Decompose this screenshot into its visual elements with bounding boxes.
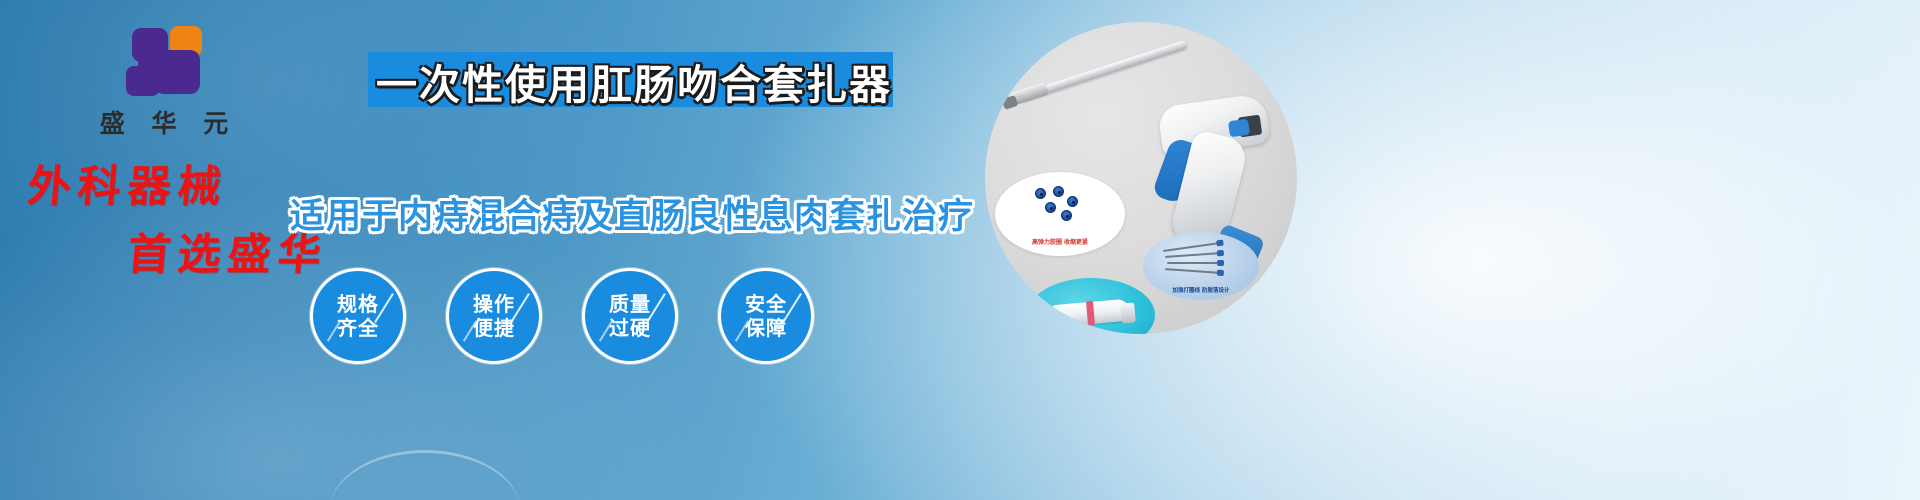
feature-label-line1: 安全: [745, 292, 787, 316]
needle-icon: [1163, 242, 1221, 252]
device-tip-end: [1002, 95, 1019, 110]
ligation-needles-inset: 加强打圈线 防脱落设计: [1143, 232, 1259, 300]
brand-name: 盛 华 元: [64, 104, 264, 140]
rubber-band-icon: [1053, 186, 1064, 197]
logo-shape-crossbar: [138, 56, 182, 72]
subtitle: 适用于内痔混合痔及直肠良性息肉套扎治疗: [290, 188, 940, 239]
feature-label-line2: 保障: [745, 316, 787, 340]
feature-badge-operation[interactable]: 操作 便捷: [446, 268, 542, 364]
feature-badge-specs[interactable]: 规格 齐全: [310, 268, 406, 364]
feature-badge-safety[interactable]: 安全 保障: [718, 268, 814, 364]
feature-label-line2: 过硬: [609, 316, 651, 340]
feature-badges: 规格 齐全 操作 便捷 质量 过硬 安全 保障: [310, 268, 814, 364]
needle-icon: [1165, 268, 1221, 274]
rubber-band-icon: [1067, 196, 1078, 207]
needle-icon: [1167, 262, 1221, 264]
rubber-band-icon: [1035, 188, 1046, 199]
shenghuayuan-logo-icon: [118, 26, 210, 100]
promo-banner: 盛 华 元 外科器械 首选盛华 一次性使用肛肠吻合套扎器 适用于内痔混合痔及直肠…: [0, 0, 1920, 500]
decorative-arc: [330, 450, 520, 500]
disposable-hemorrhoid-ligation-stapler-photo: 高弹力胶圈 收缩更紧 加强打圈线 防脱落设计: [985, 22, 1297, 334]
inset-caption: 高弹力胶圈 收缩更紧: [995, 237, 1125, 246]
brand-logo[interactable]: 盛 华 元: [64, 26, 264, 140]
page-title: 一次性使用肛肠吻合套扎器: [334, 56, 934, 106]
inset-caption: 加强打圈线 防脱落设计: [1143, 286, 1259, 294]
feature-label-line1: 操作: [473, 292, 515, 316]
feature-label-line1: 规格: [337, 292, 379, 316]
rubber-band-icon: [1045, 202, 1056, 213]
anoscope-inset: [1027, 278, 1155, 334]
feature-badge-quality[interactable]: 质量 过硬: [582, 268, 678, 364]
feature-label-line2: 便捷: [473, 316, 515, 340]
feature-label-line2: 齐全: [337, 316, 379, 340]
feature-label-line1: 质量: [609, 292, 651, 316]
rubber-band-icon: [1061, 210, 1072, 221]
rubber-bands-inset: 高弹力胶圈 收缩更紧: [995, 172, 1125, 256]
needle-icon: [1165, 252, 1221, 258]
anoscope-cap: [1120, 302, 1136, 323]
device-button: [1228, 119, 1250, 138]
